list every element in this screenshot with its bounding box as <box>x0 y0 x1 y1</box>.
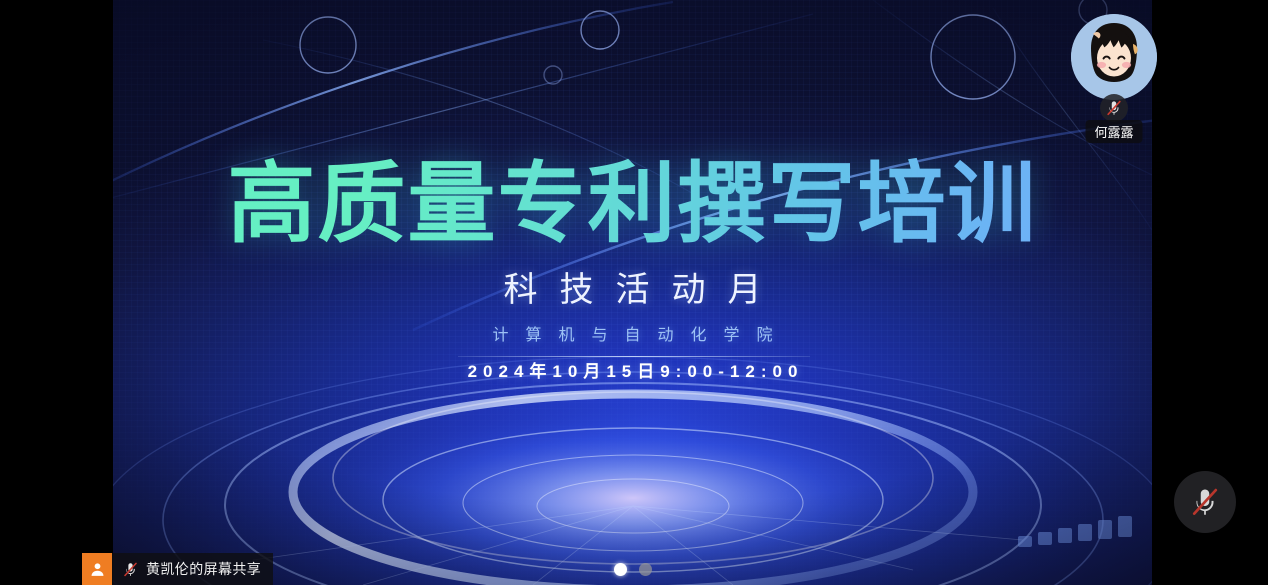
page-dot-1[interactable] <box>614 563 627 576</box>
shared-screen-content[interactable]: 高质量专利撰写培训 科技活动月 计算机与自动化学院 2024年10月15日9:0… <box>113 0 1152 585</box>
meeting-viewport: 高质量专利撰写培训 科技活动月 计算机与自动化学院 2024年10月15日9:0… <box>0 0 1268 585</box>
avatar <box>1071 14 1157 100</box>
page-dot-2[interactable] <box>639 563 652 576</box>
screen-share-status-bar: 黄凯伦的屏幕共享 <box>82 553 273 585</box>
tile-mic-muted-badge <box>1100 94 1128 122</box>
mic-muted-icon <box>1105 99 1123 117</box>
participant-tile[interactable]: 何露露 <box>1067 8 1161 146</box>
self-mute-button[interactable] <box>1174 471 1236 533</box>
share-label-text: 黄凯伦的屏幕共享 <box>146 559 261 579</box>
slide-background-vignette <box>113 0 1152 585</box>
mic-muted-icon <box>1188 485 1222 519</box>
mic-muted-icon <box>122 561 139 578</box>
share-label-pill: 黄凯伦的屏幕共享 <box>112 553 273 585</box>
participant-name: 何露露 <box>1085 120 1142 143</box>
person-icon <box>89 561 106 578</box>
avatar-wrap <box>1071 14 1157 100</box>
share-owner-avatar <box>82 553 112 585</box>
cartoon-girl-avatar <box>1071 14 1157 100</box>
